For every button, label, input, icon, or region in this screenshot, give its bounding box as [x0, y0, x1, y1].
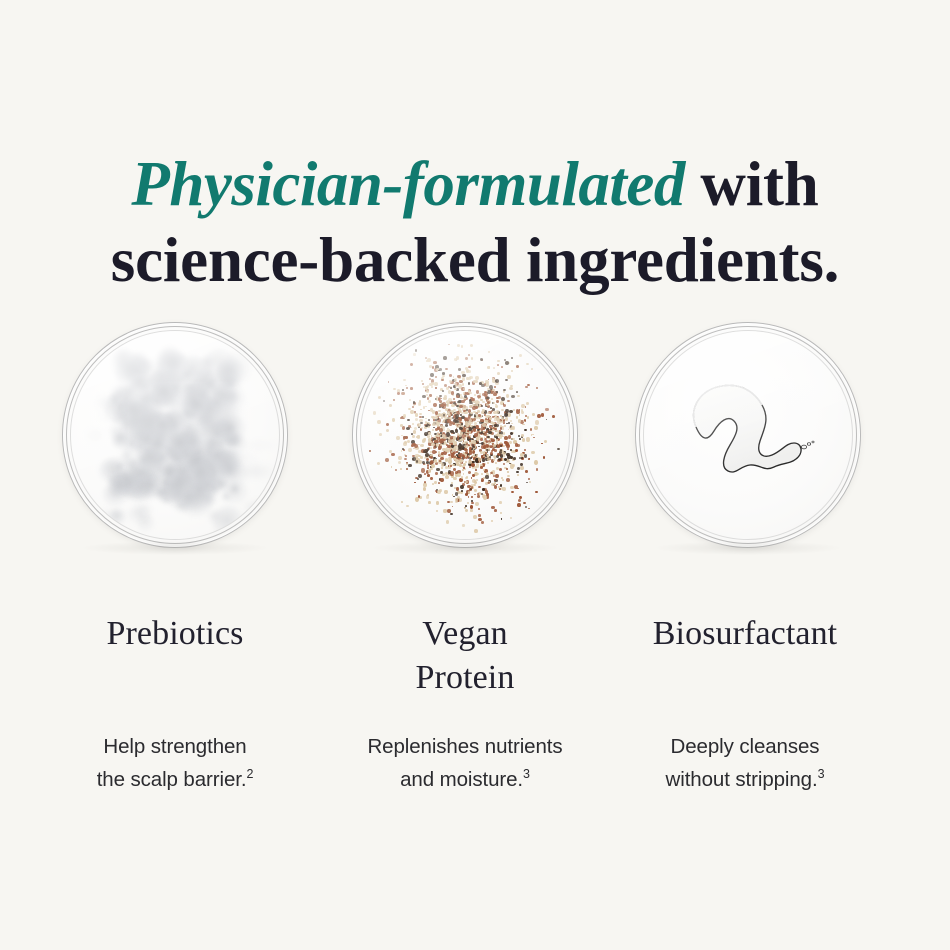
ingredient-name-line: Prebiotics	[50, 612, 300, 656]
white-powder-sample	[71, 331, 279, 539]
quinoa-grain-sample	[361, 331, 569, 539]
headline-line-2: science-backed ingredients.	[0, 222, 950, 298]
ingredient-description-row: Help strengthen the scalp barrier.2 Repl…	[0, 730, 950, 810]
clear-gel-sample	[644, 331, 852, 539]
ingredient-name-row: Prebiotics Vegan Protein Biosurfactant	[0, 612, 950, 707]
description-line: and moisture.3	[335, 763, 595, 796]
petri-dish-white-powder-icon	[62, 322, 288, 548]
footnote-marker: 2	[246, 767, 253, 781]
ingredient-card-vegan-protein	[352, 322, 578, 548]
ingredient-description-prebiotics: Help strengthen the scalp barrier.2	[45, 730, 305, 796]
ingredient-name-line: Vegan	[340, 612, 590, 656]
description-line: Help strengthen	[45, 730, 305, 763]
description-line: Replenishes nutrients	[335, 730, 595, 763]
page-title: Physician-formulated with science-backed…	[0, 146, 950, 298]
ingredient-description-vegan-protein: Replenishes nutrients and moisture.3	[335, 730, 595, 796]
description-text: without stripping.	[666, 768, 818, 791]
ingredient-name-vegan-protein: Vegan Protein	[340, 612, 590, 700]
footnote-marker: 3	[818, 767, 825, 781]
ingredient-name-prebiotics: Prebiotics	[50, 612, 300, 656]
description-line: the scalp barrier.2	[45, 763, 305, 796]
headline-accent-text: Physician-formulated	[131, 149, 685, 219]
ingredient-name-line: Protein	[340, 656, 590, 700]
headline-line-1: Physician-formulated with	[0, 146, 950, 222]
ingredient-card-biosurfactant	[635, 322, 861, 548]
ingredient-highlight-panel: Physician-formulated with science-backed…	[0, 0, 950, 950]
description-line: Deeply cleanses	[615, 730, 875, 763]
ingredient-card-prebiotics	[62, 322, 288, 548]
ingredient-name-biosurfactant: Biosurfactant	[620, 612, 870, 656]
ingredient-dish-row	[0, 322, 950, 554]
petri-dish-quinoa-grains-icon	[352, 322, 578, 548]
ingredient-description-biosurfactant: Deeply cleanses without stripping.3	[615, 730, 875, 796]
description-text: and moisture.	[400, 768, 523, 791]
headline-line-1-rest: with	[685, 149, 819, 219]
description-text: the scalp barrier.	[97, 768, 247, 791]
footnote-marker: 3	[523, 767, 530, 781]
ingredient-name-line: Biosurfactant	[620, 612, 870, 656]
petri-dish-clear-gel-icon	[635, 322, 861, 548]
description-line: without stripping.3	[615, 763, 875, 796]
